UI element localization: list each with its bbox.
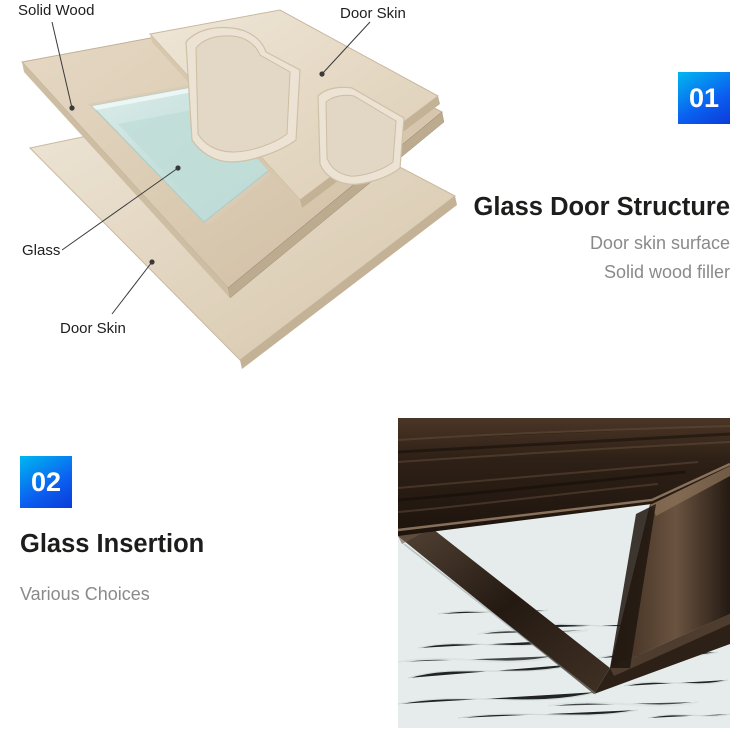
section-glass-door-structure: Solid Wood Door Skin Glass Door Skin 01 …: [0, 0, 750, 375]
callout-label-solid-wood: Solid Wood: [18, 2, 94, 19]
section-number-badge-02: 02: [20, 456, 72, 508]
section-number-badge-01: 01: [678, 72, 730, 124]
section-subtitle-01-b: Solid wood filler: [604, 262, 730, 283]
section-title-01: Glass Door Structure: [474, 193, 730, 222]
section-subtitle-01-a: Door skin surface: [590, 233, 730, 254]
callout-label-glass: Glass: [22, 242, 60, 259]
section-subtitle-02-a: Various Choices: [20, 584, 150, 605]
exploded-glass-door-diagram: [0, 0, 470, 375]
callout-label-door-skin-bottom: Door Skin: [60, 320, 126, 337]
section-title-02: Glass Insertion: [20, 530, 204, 559]
callout-label-door-skin-top: Door Skin: [340, 5, 406, 22]
glass-insertion-photo: [398, 418, 730, 728]
